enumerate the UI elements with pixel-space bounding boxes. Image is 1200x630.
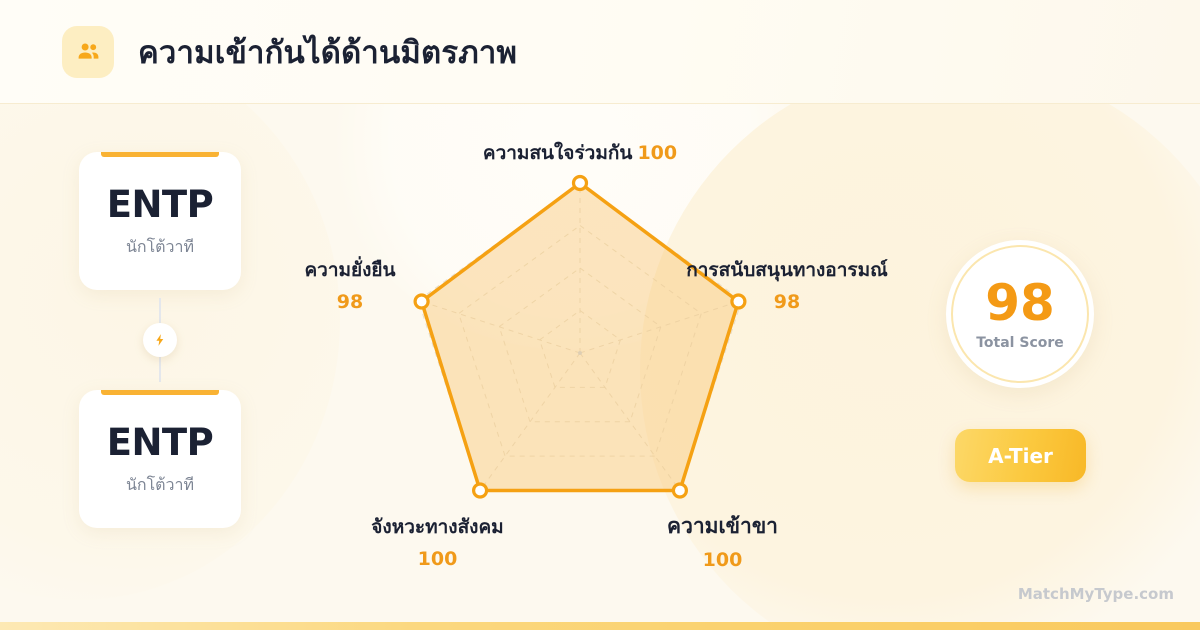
axis-label-chemistry: ความเข้าขา 100 [605, 510, 840, 571]
axis-name: การสนับสนุนทางอารมณ์ [652, 255, 922, 285]
type-code-first: ENTP [107, 183, 214, 226]
axis-value: 100 [320, 548, 555, 570]
total-score-value: 98 [985, 278, 1055, 328]
axis-name: ความเข้าขา [605, 510, 840, 543]
card-accent-bar [101, 152, 219, 157]
total-score-label: Total Score [976, 335, 1064, 351]
type-card-second[interactable]: ENTP นักโต้วาที [79, 390, 241, 528]
tier-badge-label: A-Tier [988, 444, 1053, 468]
axis-name: ความยั่งยืน [255, 255, 445, 285]
axis-label-shared-interests: ความสนใจร่วมกัน 100 [380, 138, 780, 168]
lightning-bolt-icon [143, 323, 177, 357]
site-watermark: MatchMyType.com [1018, 585, 1174, 603]
axis-value: 98 [652, 291, 922, 313]
type-card-first[interactable]: ENTP นักโต้วาที [79, 152, 241, 290]
axis-value: 100 [605, 549, 840, 571]
axis-value: 98 [255, 291, 445, 313]
bottom-accent-bar [0, 622, 1200, 630]
people-group-icon [62, 26, 114, 78]
type-code-second: ENTP [107, 421, 214, 464]
page-title: ความเข้ากันได้ด้านมิตรภาพ [138, 27, 517, 77]
axis-label-emotional-support: การสนับสนุนทางอารมณ์ 98 [652, 255, 922, 313]
axis-label-social-rhythm: จังหวะทางสังคม 100 [320, 512, 555, 570]
axis-name: จังหวะทางสังคม [320, 512, 555, 542]
total-score-circle: 98 Total Score [946, 240, 1094, 388]
axis-name: ความสนใจร่วมกัน [483, 138, 632, 168]
axis-value: 100 [637, 142, 677, 164]
axis-label-sustainability: ความยั่งยืน 98 [255, 255, 445, 313]
page-header: ความเข้ากันได้ด้านมิตรภาพ [0, 0, 1200, 104]
type-connector [79, 290, 241, 390]
type-nickname-second: นักโต้วาที [126, 473, 194, 498]
card-accent-bar [101, 390, 219, 395]
type-pair-panel: ENTP นักโต้วาที ENTP นักโต้วาที [79, 152, 241, 528]
type-nickname-first: นักโต้วาที [126, 235, 194, 260]
tier-badge[interactable]: A-Tier [955, 429, 1086, 482]
